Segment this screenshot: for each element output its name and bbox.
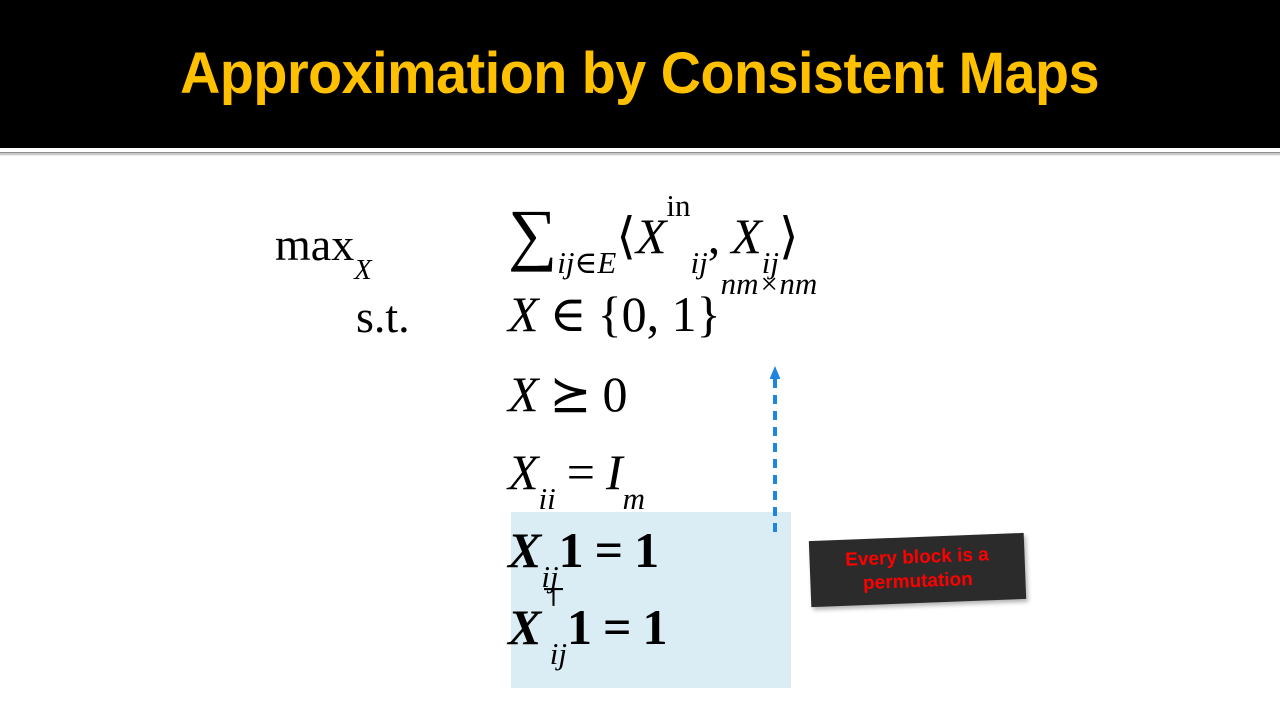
set-brace-open: { (598, 286, 622, 342)
input-matrix-subscript: ij (691, 245, 708, 280)
constraint-diagonal: Xii=Im (508, 443, 645, 501)
objective-label-subscript: X (354, 255, 371, 286)
succeeds-equal-icon: ⪰ (550, 366, 592, 422)
inner-product-comma: , (708, 208, 721, 264)
variable-matrix-base: X (731, 208, 762, 264)
equals-icon: = (567, 444, 595, 500)
ones-vector-right: 1 (634, 522, 659, 578)
ones-vector-left-transposed: 1 (567, 599, 592, 655)
objective-label: maxX (275, 218, 372, 271)
arrow-head (770, 366, 780, 379)
constraint-psd: X⪰0 (508, 365, 627, 423)
constraint-psd-rhs: 0 (602, 366, 627, 422)
callout-pointer-arrow-icon (770, 366, 780, 532)
ones-vector-left: 1 (559, 522, 584, 578)
annotation-callout-box: Every block is a permutation (809, 533, 1026, 607)
subject-to-label: s.t. (356, 290, 410, 343)
constraint-col-sum-base: X (508, 599, 541, 655)
ones-vector-right-transposed: 1 (642, 599, 667, 655)
annotation-callout-text: Every block is a permutation (809, 542, 1026, 598)
constraint-diagonal-lhs-base: X (508, 444, 539, 500)
element-of-icon: ∈ (550, 286, 587, 342)
input-matrix-superscript: in (666, 188, 690, 223)
angle-bracket-open: ⟨ (616, 208, 636, 264)
constraint-col-sum-subscript: ij (550, 636, 567, 671)
constraint-row-sum: Xij1=1 (508, 521, 659, 579)
identity-matrix-subscript: m (623, 481, 645, 516)
constraint-col-sum: X⊤ij1=1 (508, 598, 667, 656)
input-matrix-base: X (636, 208, 667, 264)
set-exponent: nm×nm (721, 266, 818, 301)
objective-label-text: max (275, 219, 354, 270)
summation-range: ij∈E (557, 245, 616, 280)
set-values: 0, 1 (622, 286, 697, 342)
constraint-row-sum-base: X (508, 522, 541, 578)
constraint-psd-lhs: X (508, 366, 539, 422)
row-sum-equals-icon: = (595, 522, 624, 578)
constraint-diagonal-lhs-subscript: ii (539, 481, 556, 516)
angle-bracket-close: ⟩ (779, 208, 799, 264)
constraint-binary: X∈{0, 1}nm×nm (508, 285, 817, 343)
summation-icon: ∑ (508, 196, 557, 272)
objective-expression: ∑ij∈E⟨Xinij,Xij⟩ (508, 206, 799, 265)
constraint-binary-lhs: X (508, 286, 539, 342)
identity-matrix-base: I (606, 444, 623, 500)
transpose-icon: ⊤ (541, 583, 565, 612)
optimization-problem: maxX ∑ij∈E⟨Xinij,Xij⟩ s.t. X∈{0, 1}nm×nm… (0, 0, 1280, 720)
col-sum-equals-icon: = (603, 599, 632, 655)
set-brace-close: } (697, 286, 721, 342)
